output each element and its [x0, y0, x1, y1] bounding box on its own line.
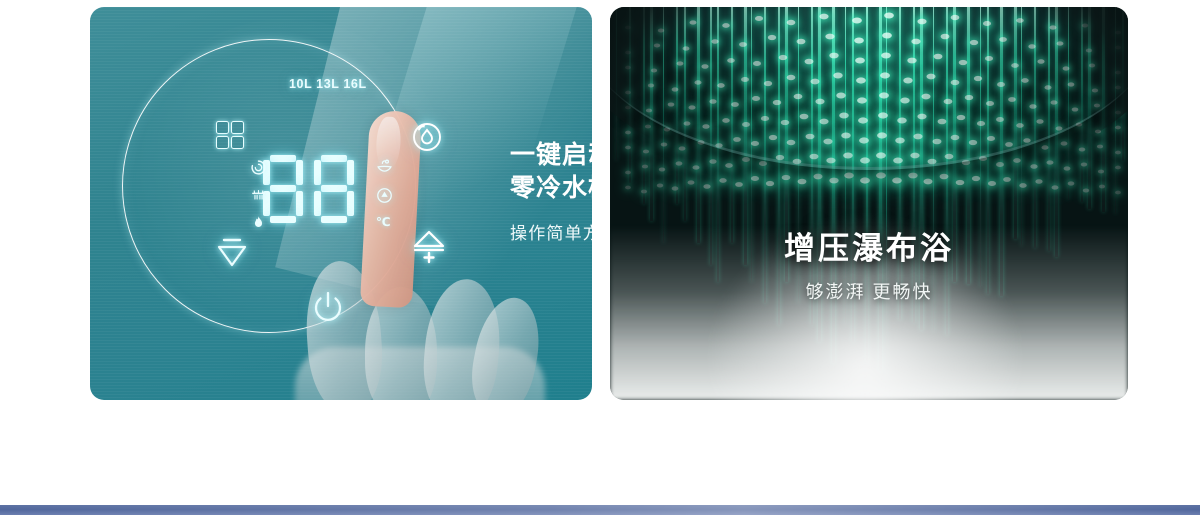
finger-shape	[365, 287, 437, 400]
bath-icon	[376, 187, 393, 204]
capacity-label: 10L 13L 16L	[289, 77, 367, 91]
right-subtitle: 够澎湃 更畅快	[610, 278, 1128, 304]
temperature-unit-label: ℃	[376, 215, 391, 229]
water-jets	[610, 7, 1128, 400]
left-headline-line1: 一键启动	[510, 139, 592, 172]
left-headline-line2: 零冷水模式	[510, 172, 592, 205]
palm-shape	[295, 347, 545, 400]
promo-stage: 10L 13L 16L	[0, 0, 1200, 515]
finger-shape	[464, 292, 547, 400]
shower-icon	[250, 187, 267, 204]
eco-icon	[376, 157, 393, 174]
right-feature-panel: 增压瀑布浴 够澎湃 更畅快	[610, 7, 1128, 400]
seven-segment-digit	[313, 155, 355, 223]
left-subtitle: 操作简单方便	[510, 219, 592, 244]
left-panel-copy: 一键启动 零冷水模式 操作简单方便	[510, 139, 592, 244]
right-headline: 增压瀑布浴	[610, 223, 1128, 268]
increase-button[interactable]	[412, 229, 446, 265]
power-icon[interactable]	[309, 289, 347, 327]
seven-segment-digit	[262, 155, 304, 223]
mist-overlay	[610, 225, 1128, 400]
flame-icon	[250, 215, 267, 232]
finger-shape	[302, 259, 386, 400]
left-feature-panel: 10L 13L 16L	[90, 7, 592, 400]
zero-cold-water-icon[interactable]	[411, 121, 443, 153]
grid-icon[interactable]	[216, 121, 244, 149]
shower-head-rim	[610, 7, 1128, 170]
shower-head-shadow	[610, 7, 1128, 187]
decrease-button[interactable]	[216, 235, 248, 269]
finger-shape	[419, 276, 505, 400]
digital-temperature-display	[262, 155, 355, 223]
footer-divider-sheen	[0, 505, 1200, 515]
recycle-icon	[250, 159, 267, 176]
right-panel-copy: 增压瀑布浴 够澎湃 更畅快	[610, 223, 1128, 304]
mist-core	[700, 210, 1030, 400]
